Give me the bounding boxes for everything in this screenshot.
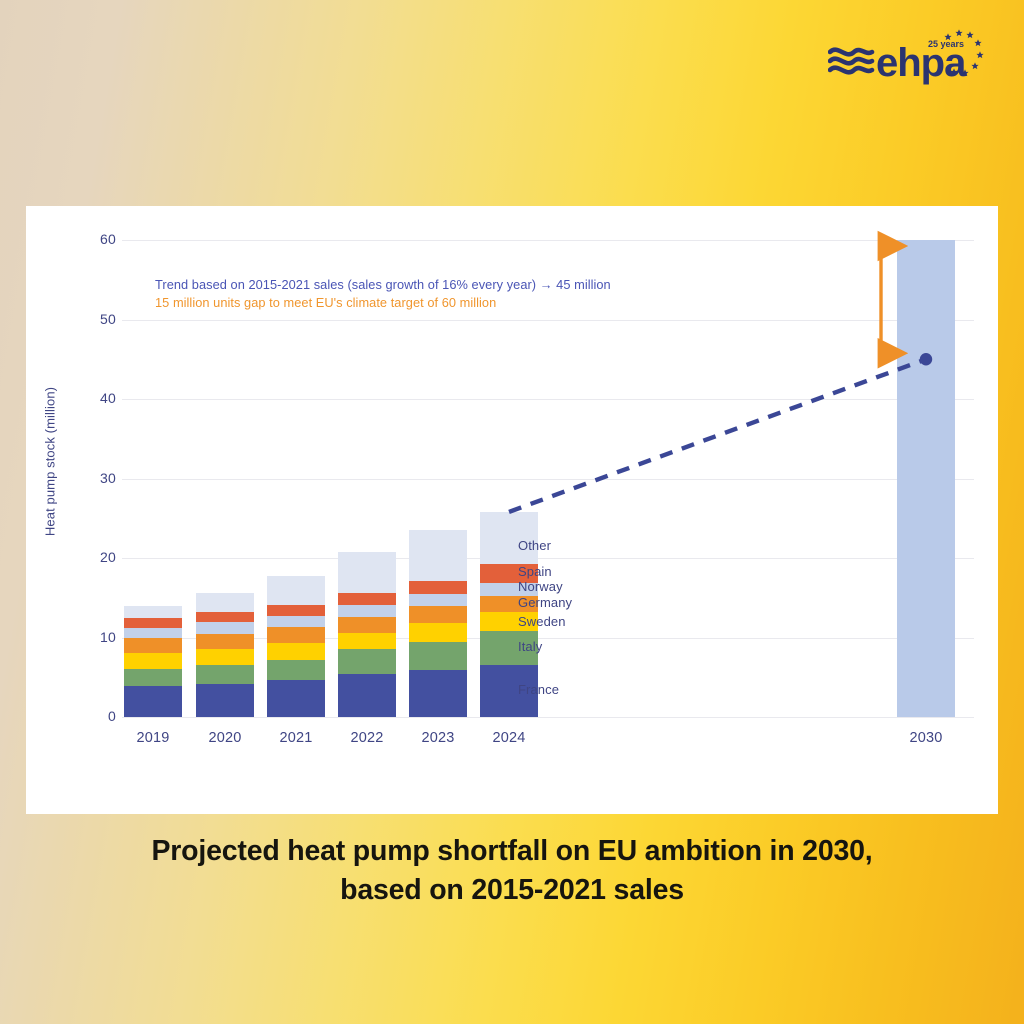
bar-segment-norway: [409, 594, 467, 606]
bar-segment-germany: [196, 634, 254, 649]
bar-segment-france: [196, 684, 254, 717]
bar-segment-spain: [196, 612, 254, 622]
bar-segment-other: [338, 552, 396, 593]
y-tick-label: 20: [82, 549, 116, 565]
bar-segment-sweden: [124, 653, 182, 669]
y-tick-label: 30: [82, 470, 116, 486]
gridline: [122, 240, 974, 241]
gridline: [122, 558, 974, 559]
bar-segment-germany: [338, 617, 396, 633]
wave-icon: [830, 50, 872, 73]
page-title: Projected heat pump shortfall on EU ambi…: [0, 832, 1024, 911]
bar-2030[interactable]: [897, 240, 955, 717]
bar-segment-other: [409, 530, 467, 581]
x-tick-label-2019: 2019: [113, 730, 193, 746]
bar-segment-other: [196, 593, 254, 612]
bar-2023[interactable]: [409, 530, 467, 717]
bar-segment-germany: [124, 638, 182, 652]
legend-label-other: Other: [518, 538, 551, 553]
ehpa-logo: ehpa 25 years: [828, 24, 988, 86]
bar-segment-germany: [409, 606, 467, 623]
title-line-1: Projected heat pump shortfall on EU ambi…: [0, 832, 1024, 871]
x-tick-label-2030: 2030: [886, 730, 966, 746]
y-axis-label: Heat pump stock (million): [43, 232, 58, 692]
bar-segment-spain: [124, 618, 182, 628]
x-tick-label-2020: 2020: [185, 730, 265, 746]
x-tick-label-2021: 2021: [256, 730, 336, 746]
x-tick-label-2023: 2023: [398, 730, 478, 746]
legend-label-france: France: [518, 682, 559, 697]
gridline: [122, 717, 974, 718]
title-line-2: based on 2015-2021 sales: [0, 871, 1024, 910]
trend-dashed-line: [509, 359, 926, 512]
gridline: [122, 320, 974, 321]
bar-segment-other: [267, 576, 325, 605]
gap-annotation: 15 million units gap to meet EU's climat…: [155, 295, 496, 310]
legend-label-italy: Italy: [518, 639, 542, 654]
bar-segment-italy: [409, 642, 467, 671]
bar-segment-france: [409, 670, 467, 717]
bar-segment-norway: [196, 622, 254, 633]
bar-segment-spain: [409, 581, 467, 594]
bar-segment-italy: [196, 665, 254, 684]
legend-label-sweden: Sweden: [518, 614, 566, 629]
y-tick-label: 60: [82, 231, 116, 247]
bar-segment-spain: [338, 593, 396, 605]
bar-segment-target: [897, 240, 955, 717]
bar-segment-norway: [267, 616, 325, 627]
legend-label-spain: Spain: [518, 564, 552, 579]
bar-segment-norway: [338, 605, 396, 617]
chart-card: Heat pump stock (million) 0102030405060 …: [26, 206, 998, 814]
trend-annotation: Trend based on 2015-2021 sales (sales gr…: [155, 277, 611, 292]
ehpa-logo-svg: ehpa 25 years: [828, 24, 988, 86]
legend-label-germany: Germany: [518, 595, 572, 610]
x-tick-label-2022: 2022: [327, 730, 407, 746]
bar-segment-spain: [267, 605, 325, 616]
y-tick-label: 40: [82, 390, 116, 406]
legend-label-norway: Norway: [518, 579, 563, 594]
bar-segment-norway: [124, 628, 182, 638]
x-tick-label-2024: 2024: [469, 730, 549, 746]
bar-segment-other: [124, 606, 182, 618]
bar-segment-sweden: [267, 643, 325, 660]
bar-segment-germany: [267, 627, 325, 643]
y-tick-label: 50: [82, 311, 116, 327]
bar-segment-italy: [338, 649, 396, 674]
logo-badge-text: 25 years: [928, 39, 964, 49]
bar-segment-sweden: [409, 623, 467, 641]
bar-2021[interactable]: [267, 576, 325, 717]
plot-area: Heat pump stock (million) 0102030405060 …: [26, 206, 998, 814]
bar-2020[interactable]: [196, 593, 254, 717]
gridline: [122, 479, 974, 480]
bar-segment-france: [338, 674, 396, 717]
bar-2019[interactable]: [124, 606, 182, 717]
bar-segment-france: [124, 686, 182, 717]
bar-segment-sweden: [338, 633, 396, 650]
bar-segment-france: [267, 680, 325, 717]
bar-2022[interactable]: [338, 552, 396, 717]
gridline: [122, 399, 974, 400]
bar-segment-sweden: [196, 649, 254, 665]
bar-segment-italy: [124, 669, 182, 686]
y-tick-label: 0: [82, 708, 116, 724]
y-tick-label: 10: [82, 629, 116, 645]
bar-segment-italy: [267, 660, 325, 681]
